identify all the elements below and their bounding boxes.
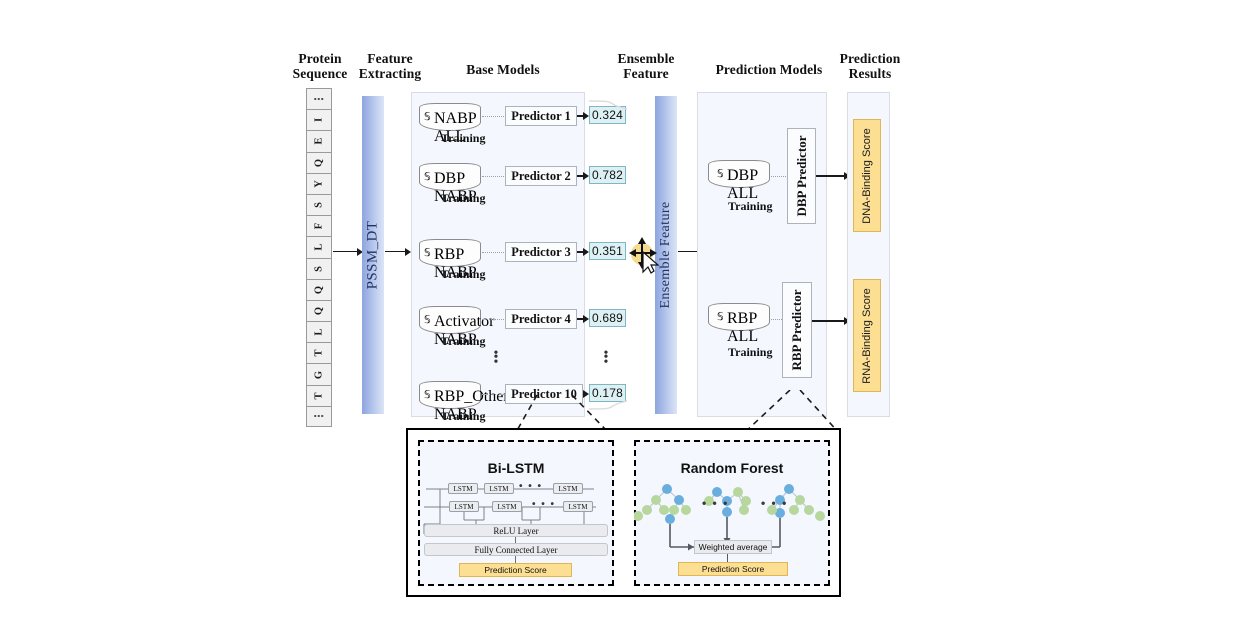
cylinder-symbol-S: 𝕊 <box>424 171 431 183</box>
predictor-box[interactable]: Predictor 4 <box>505 309 577 329</box>
arrow-pssm-to-base-line <box>385 251 407 252</box>
protein-residue-cell: ⋮ <box>306 88 332 109</box>
training-label-rbp: Training <box>728 345 772 360</box>
pssm-dt-label: PSSM_DT <box>365 221 382 290</box>
cylinder-symbol-S: 𝕊 <box>424 247 431 259</box>
header-feature-extracting-line1: Feature <box>352 51 428 66</box>
lstm-cell: LSTM <box>563 501 593 512</box>
bilstm-title: Bi-LSTM <box>418 460 614 476</box>
cylinder-symbol-S: 𝕊 <box>424 314 431 326</box>
predictor-box[interactable]: Predictor 3 <box>505 242 577 262</box>
training-label: Training <box>441 191 485 206</box>
protein-residue-label: ⋮ <box>313 411 325 422</box>
protein-residue-cell: Y <box>306 173 332 194</box>
arrow-sequence-to-pssm-line <box>333 251 359 252</box>
header-ensemble-feature-line1: Ensemble <box>608 51 684 66</box>
protein-residue-cell: L <box>306 236 332 257</box>
cylinder-label-sup: DBP <box>434 170 477 188</box>
header-prediction-models-line1: Prediction Models <box>703 62 835 77</box>
protein-residue-cell: S <box>306 258 332 279</box>
protein-residue-label: F <box>314 223 325 229</box>
base-models-ellipsis: ••• <box>489 352 503 365</box>
dotted-link-dbp <box>771 176 788 177</box>
protein-residue-label: G <box>314 370 325 378</box>
result-rna-binding-score-label: RNA-Binding Score <box>861 288 873 383</box>
cylinder-label: DBP ALL <box>727 167 758 203</box>
header-prediction-results-line2: Results <box>832 66 908 81</box>
cylinder-label-sup: NABP <box>434 110 477 128</box>
dotted-link <box>482 176 504 177</box>
random-forest-title: Random Forest <box>634 460 830 476</box>
protein-residue-label: S <box>314 202 325 208</box>
connector-wavg-to-score <box>727 554 728 562</box>
protein-residue-cell: E <box>306 130 332 151</box>
cylinder-label-sup: Activator <box>434 313 494 331</box>
cylinder-label-sup: RBP <box>727 310 758 328</box>
training-label: Training <box>441 334 485 349</box>
rbp-predictor-label: RBP Predictor <box>789 290 805 371</box>
protein-residue-cell: Q <box>306 300 332 321</box>
protein-residue-label: ⋮ <box>313 94 325 105</box>
protein-residue-cell: G <box>306 363 332 384</box>
result-dna-binding-score: DNA-Binding Score <box>853 119 881 232</box>
random-forest-ellipsis-right: • • • <box>761 496 788 510</box>
dotted-link <box>482 319 504 320</box>
random-forest-ellipsis-left: • • • <box>702 496 729 510</box>
dataset-cylinder-dbp-all: 𝕊 DBP ALL <box>708 160 770 190</box>
rbp-predictor-box: RBP Predictor <box>782 282 812 378</box>
header-feature-extracting-line2: Extracting <box>352 66 428 81</box>
lstm-cell: LSTM <box>484 483 514 494</box>
cylinder-label-sub: ALL <box>727 328 758 346</box>
random-forest-prediction-score: Prediction Score <box>678 562 788 576</box>
result-dna-binding-score-label: DNA-Binding Score <box>861 128 873 223</box>
header-protein-sequence-line2: Sequence <box>284 66 356 81</box>
cylinder-symbol-S: 𝕊 <box>424 111 431 123</box>
dataset-cylinder: 𝕊NABPALL <box>419 103 481 133</box>
move-cursor <box>628 232 664 274</box>
protein-residue-label: Q <box>314 286 325 294</box>
protein-residue-label: T <box>314 392 325 399</box>
dotted-link <box>482 116 504 117</box>
header-protein-sequence: Protein Sequence <box>284 51 356 81</box>
training-label: Training <box>441 131 485 146</box>
protein-residue-label: E <box>314 138 325 145</box>
lstm-cell: LSTM <box>492 501 522 512</box>
fully-connected-layer-bar: Fully Connected Layer <box>424 543 608 556</box>
weighted-average-box: Weighted average <box>694 540 772 554</box>
lstm-cell: LSTM <box>448 483 478 494</box>
diagram-canvas: Protein Sequence Feature Extracting Base… <box>0 0 1250 625</box>
header-prediction-results: Prediction Results <box>832 51 908 81</box>
connector-relu-to-fc <box>515 537 516 543</box>
header-base-models: Base Models <box>443 62 563 77</box>
bilstm-prediction-score: Prediction Score <box>459 563 572 577</box>
protein-residue-label: Q <box>314 159 325 167</box>
protein-residue-label: S <box>314 266 325 272</box>
protein-residue-label: L <box>314 329 325 336</box>
protein-residue-label: T <box>314 350 325 357</box>
arrow-rbp-to-result-line <box>812 320 846 322</box>
dotted-link <box>482 252 504 253</box>
protein-residue-cell: T <box>306 342 332 363</box>
header-prediction-models: Prediction Models <box>703 62 835 77</box>
dataset-cylinder: 𝕊ActivatorNABP <box>419 306 481 336</box>
header-prediction-results-line1: Prediction <box>832 51 908 66</box>
header-ensemble-feature: Ensemble Feature <box>608 51 684 81</box>
lstm-cell: LSTM <box>553 483 583 494</box>
cylinder-label-sup: RBP <box>434 246 477 264</box>
dataset-cylinder-rbp-all: 𝕊 RBP ALL <box>708 303 770 333</box>
protein-residue-cell: Q <box>306 152 332 173</box>
protein-residue-cell: ⋮ <box>306 406 332 427</box>
cylinder-symbol-S: 𝕊 <box>717 311 724 323</box>
connector-fc-to-score <box>515 556 516 563</box>
cylinder-symbol-S: 𝕊 <box>717 168 724 180</box>
protein-residue-cell: F <box>306 215 332 236</box>
training-label-dbp: Training <box>728 199 772 214</box>
header-ensemble-feature-line2: Feature <box>608 66 684 81</box>
cylinder-label-sup: DBP <box>727 167 758 185</box>
header-protein-sequence-line1: Protein <box>284 51 356 66</box>
relu-layer-bar: ReLU Layer <box>424 524 608 537</box>
protein-residue-label: Y <box>314 180 325 188</box>
protein-residue-cell: L <box>306 321 332 342</box>
header-feature-extracting: Feature Extracting <box>352 51 428 81</box>
protein-residue-label: L <box>314 244 325 251</box>
protein-residue-cell: Q <box>306 279 332 300</box>
protein-residue-cell: T <box>306 385 332 406</box>
header-base-models-line1: Base Models <box>443 62 563 77</box>
dbp-predictor-label: DBP Predictor <box>794 136 810 217</box>
predictor-box[interactable]: Predictor 2 <box>505 166 577 186</box>
protein-sequence-column: ⋮IEQYSFLSQQLTGT⋮ <box>306 88 332 427</box>
predictor-box[interactable]: Predictor 1 <box>505 106 577 126</box>
bilstm-ellipsis-top: • • • <box>519 481 543 492</box>
protein-residue-cell: S <box>306 194 332 215</box>
protein-residue-cell: I <box>306 109 332 130</box>
dbp-predictor-box: DBP Predictor <box>787 128 816 224</box>
protein-residue-label: Q <box>314 307 325 315</box>
protein-residue-label: I <box>314 118 325 122</box>
training-label: Training <box>441 267 485 282</box>
pssm-dt-bar: PSSM_DT <box>362 96 384 414</box>
result-rna-binding-score: RNA-Binding Score <box>853 279 881 392</box>
lstm-cell: LSTM <box>449 501 479 512</box>
cylinder-label: RBP ALL <box>727 310 758 346</box>
dataset-cylinder: 𝕊DBPNABP <box>419 163 481 193</box>
bilstm-ellipsis-bottom: • • • <box>532 499 556 510</box>
dataset-cylinder: 𝕊RBPNABP <box>419 239 481 269</box>
arrow-dbp-to-result-line <box>816 175 846 177</box>
